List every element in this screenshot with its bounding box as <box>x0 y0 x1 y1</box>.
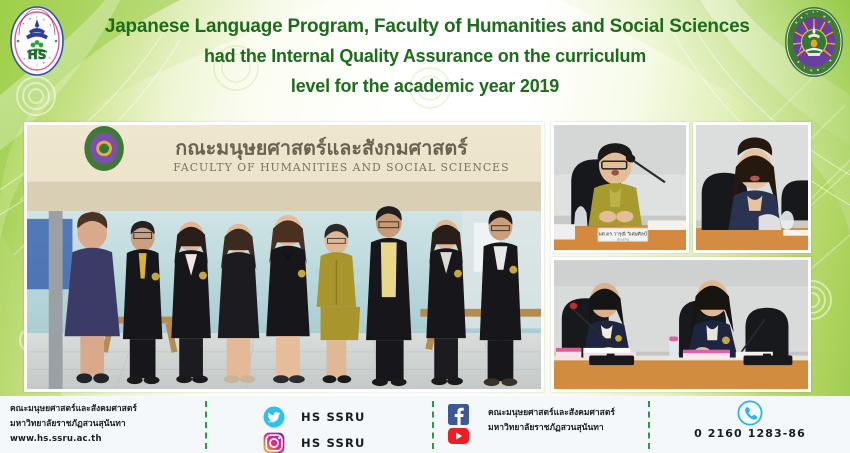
title-line-2: had the Internal Quality Assurance on th… <box>105 41 745 71</box>
poster-banner: ค ณ ะ ม น ส ั ง ค ม <box>0 0 850 453</box>
committee-member-smiling-photo <box>693 122 811 253</box>
photo-collage: กณะมนุษยศาสตร์และสังกมศาสตร์ FACULTY OF … <box>0 118 850 396</box>
facebook-page-line-1: คณะมนุษยศาสตร์และสังคมศาสตร์ <box>488 406 615 421</box>
svg-text:HS: HS <box>28 48 47 62</box>
footer-divider-1 <box>205 401 207 449</box>
footer-divider-3 <box>648 401 650 449</box>
website-url[interactable]: www.hs.ssru.ac.th <box>10 432 200 447</box>
title-line-3: level for the academic year 2019 <box>105 71 745 101</box>
twitter-handle: HS SSRU <box>301 410 366 424</box>
twitter-icon <box>263 406 285 428</box>
footer-facebook-block: คณะมนุษยศาสตร์และสังคมศาสตร์ มหาวิทยาลัย… <box>444 402 644 448</box>
footer-divider-2 <box>432 401 434 449</box>
svg-text:FACULTY OF HUMANITIES AND SOCI: FACULTY OF HUMANITIES AND SOCIAL SCIENCE… <box>173 161 509 174</box>
committee-chair-speaking-photo: ผศ.ดร.วารุณี วิเศษศิลป์ ประธาน <box>551 122 689 253</box>
facebook-icon[interactable] <box>448 404 469 425</box>
instagram-social-row[interactable]: HS SSRU <box>245 431 425 453</box>
instagram-handle: HS SSRU <box>301 436 366 450</box>
phone-number: 0 2160 1283-86 <box>655 427 845 440</box>
address-line-1: คณะมนุษยศาสตร์และสังคมศาสตร์ <box>10 402 200 417</box>
poster-header: ค ณ ะ ม น ส ั ง ค ม <box>0 0 850 118</box>
title-line-1: Japanese Language Program, Faculty of Hu… <box>105 11 745 41</box>
committee-members-reviewing-documents-photo <box>551 257 811 392</box>
footer-address-block: คณะมนุษยศาสตร์และสังคมศาสตร์ มหาวิทยาลัย… <box>10 402 200 447</box>
poster-title: Japanese Language Program, Faculty of Hu… <box>95 11 755 101</box>
ssru-university-seal-icon: ม ห า ว ิ ท ย ส ว น ส ุ น <box>784 6 844 78</box>
facebook-page-line-2: มหาวิทยาลัยราชภัฏสวนสุนันทา <box>488 421 615 436</box>
hs-faculty-logo-icon: ค ณ ะ ม น ส ั ง ค ม <box>9 5 65 77</box>
group-photo-faculty-front: กณะมนุษยศาสตร์และสังกมศาสตร์ FACULTY OF … <box>24 122 544 392</box>
poster-footer: คณะมนุษยศาสตร์และสังคมศาสตร์ มหาวิทยาลัย… <box>0 396 850 453</box>
svg-text:ประธาน: ประธาน <box>617 237 629 241</box>
address-line-2: มหาวิทยาลัยราชภัฏสวนสุนันทา <box>10 417 200 432</box>
footer-social-block: HS SSRU <box>245 402 425 453</box>
twitter-social-row[interactable]: HS SSRU <box>245 405 425 428</box>
instagram-icon <box>263 432 285 453</box>
phone-icon <box>737 400 763 426</box>
svg-text:กณะมนุษยศาสตร์และสังกมศาสตร์: กณะมนุษยศาสตร์และสังกมศาสตร์ <box>175 136 468 160</box>
youtube-icon[interactable] <box>448 428 469 444</box>
footer-phone-block: 0 2160 1283-86 <box>655 400 845 440</box>
